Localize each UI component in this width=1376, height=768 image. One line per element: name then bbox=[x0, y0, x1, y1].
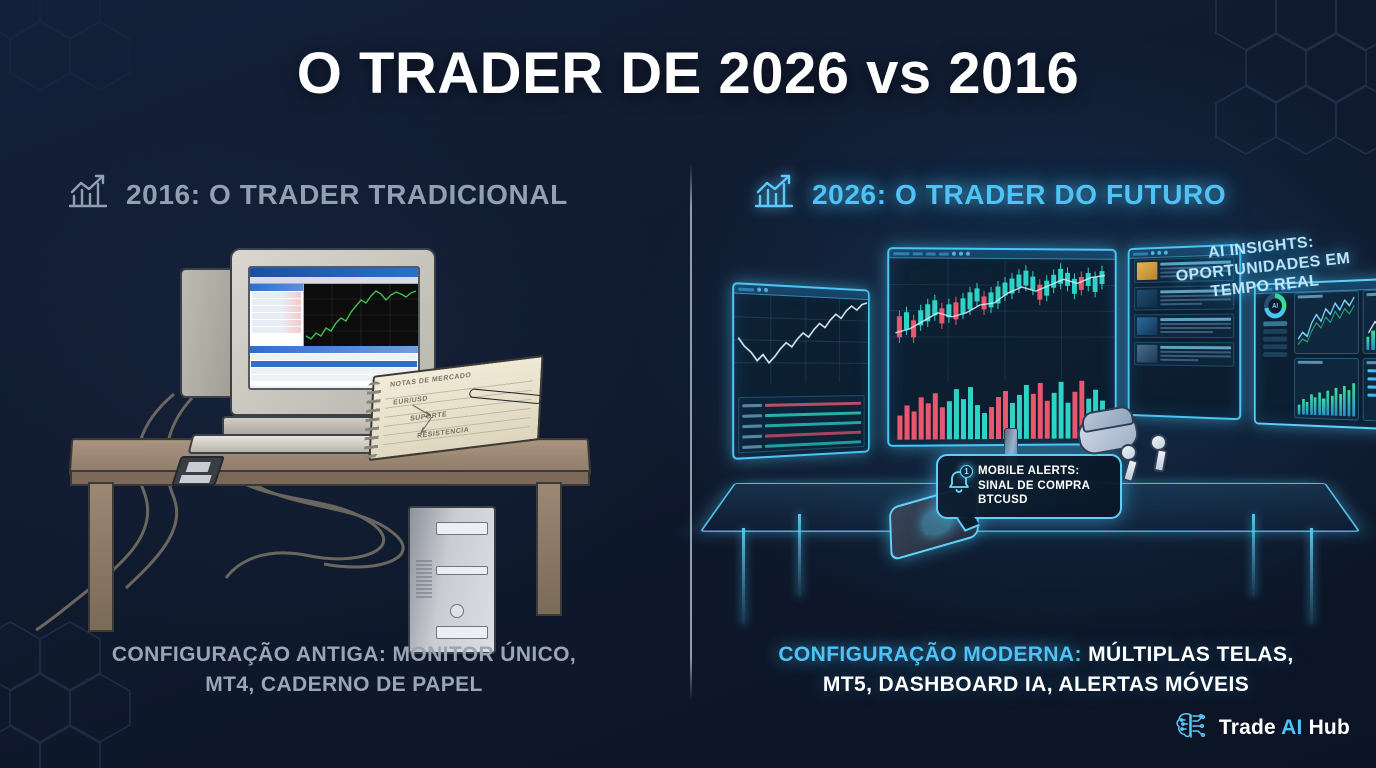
wooden-desk-edge bbox=[70, 470, 590, 486]
dashboard-progress-card bbox=[1362, 358, 1376, 424]
infographic-canvas: O TRADER DE 2026 vs 2016 2016: O TRADER … bbox=[0, 0, 1376, 768]
brand-text-ai: AI bbox=[1281, 716, 1302, 739]
right-caption-line-2: MT5, DASHBOARD IA, ALERTAS MÓVEIS bbox=[730, 670, 1342, 700]
ai-dashboard-panel[interactable]: AI bbox=[1254, 276, 1376, 432]
ai-dashboard-cards bbox=[1294, 288, 1376, 424]
glass-desk-leg-inner-left bbox=[798, 514, 801, 596]
dashboard-menu-item[interactable] bbox=[1263, 352, 1287, 357]
brand-text-2: Hub bbox=[1303, 716, 1350, 739]
glass-desk-leg-inner-right bbox=[1252, 514, 1255, 596]
ai-logo-text: AI bbox=[1268, 298, 1282, 314]
news-item[interactable] bbox=[1134, 342, 1234, 367]
right-section-title: 2026: O TRADER DO FUTURO bbox=[812, 179, 1226, 211]
mt4-market-watch bbox=[250, 284, 304, 346]
dashboard-trend-line bbox=[1295, 291, 1357, 352]
floppy-drive-bay bbox=[436, 566, 488, 575]
alert-line-1: MOBILE ALERTS: bbox=[978, 464, 1110, 479]
mt4-toolbar bbox=[250, 277, 418, 284]
dashboard-progress-bars bbox=[1367, 369, 1376, 398]
notebook-spiral-binding bbox=[364, 381, 382, 460]
mobile-alert-bubble[interactable]: 1 MOBILE ALERTS: SINAL DE COMPRA BTCUSD bbox=[936, 454, 1122, 519]
right-caption: CONFIGURAÇÃO MODERNA: MÚLTIPLAS TELAS, M… bbox=[730, 640, 1342, 700]
vertical-divider bbox=[690, 164, 692, 700]
desk-leg-right bbox=[536, 482, 562, 616]
mt4-price-chart bbox=[304, 284, 418, 346]
alert-line-2: SINAL DE COMPRA bbox=[978, 479, 1110, 494]
monitor-center-candlestick-chart bbox=[889, 258, 1116, 381]
brand-logo: Trade AI Hub bbox=[1174, 709, 1350, 746]
cd-drive-bay bbox=[436, 522, 488, 535]
tower-vent bbox=[416, 560, 432, 600]
mt4-titlebar bbox=[250, 268, 418, 277]
dashboard-menu-item[interactable] bbox=[1263, 337, 1287, 342]
monitor-left-watchlist[interactable] bbox=[738, 395, 864, 453]
ai-logo-donut: AI bbox=[1264, 293, 1286, 319]
mt4-workspace bbox=[250, 284, 418, 346]
desktop-tower-pc bbox=[408, 506, 496, 654]
page-title: O TRADER DE 2026 vs 2016 bbox=[0, 40, 1376, 107]
dashboard-trend-card bbox=[1294, 290, 1358, 353]
news-item[interactable] bbox=[1134, 314, 1234, 339]
left-caption-line-2: MT4, CADERNO DE PAPEL bbox=[44, 670, 644, 700]
right-caption-highlight: CONFIGURAÇÃO MODERNA: bbox=[778, 643, 1082, 666]
alert-count-badge: 1 bbox=[960, 465, 973, 478]
brand-name: Trade AI Hub bbox=[1219, 716, 1350, 740]
dashboard-menu-item[interactable] bbox=[1263, 344, 1287, 349]
power-button[interactable] bbox=[450, 604, 464, 618]
dashboard-analytics-bars bbox=[1366, 311, 1376, 349]
mt4-line-series bbox=[304, 284, 418, 346]
left-caption-line-1: CONFIGURAÇÃO ANTIGA: MONITOR ÚNICO, bbox=[44, 640, 644, 670]
bar-chart-growth-icon bbox=[752, 172, 796, 217]
dashboard-volume-bars bbox=[1298, 379, 1355, 416]
earbud-right bbox=[1150, 434, 1167, 451]
monitor-left-line-chart bbox=[734, 294, 869, 384]
notebook-arrows bbox=[401, 391, 493, 449]
dashboard-menu-item[interactable] bbox=[1263, 321, 1287, 326]
dashboard-menu-item[interactable] bbox=[1263, 329, 1287, 334]
mt4-terminal-screen bbox=[248, 266, 420, 390]
alert-line-3: BTCUSD bbox=[978, 493, 1110, 508]
right-section-header: 2026: O TRADER DO FUTURO bbox=[752, 172, 1226, 217]
bar-chart-growth-icon bbox=[66, 172, 110, 217]
monitor-left[interactable] bbox=[732, 282, 869, 460]
dashboard-analytics-card bbox=[1362, 288, 1376, 354]
glass-desk-leg-left bbox=[742, 528, 745, 624]
ai-dashboard-body: AI bbox=[1261, 288, 1376, 424]
legacy-trading-desk-illustration: NOTAS DE MERCADO EUR/USD SUPORTE RESISTE… bbox=[70, 238, 630, 628]
left-section-header: 2016: O TRADER TRADICIONAL bbox=[66, 172, 568, 217]
lower-drive-bay bbox=[436, 626, 488, 639]
dashboard-volume-card bbox=[1294, 357, 1358, 420]
brand-text-1: Trade bbox=[1219, 716, 1281, 739]
desk-leg-left bbox=[88, 482, 114, 632]
right-caption-rest: MÚLTIPLAS TELAS, bbox=[1082, 643, 1294, 666]
brain-circuit-icon bbox=[1174, 709, 1208, 746]
left-caption: CONFIGURAÇÃO ANTIGA: MONITOR ÚNICO, MT4,… bbox=[44, 640, 644, 700]
ai-dashboard-sidebar[interactable]: AI bbox=[1261, 293, 1290, 418]
earbud-left bbox=[1120, 444, 1137, 461]
glass-desk-leg-right bbox=[1310, 528, 1313, 624]
left-section-title: 2016: O TRADER TRADICIONAL bbox=[126, 179, 568, 211]
